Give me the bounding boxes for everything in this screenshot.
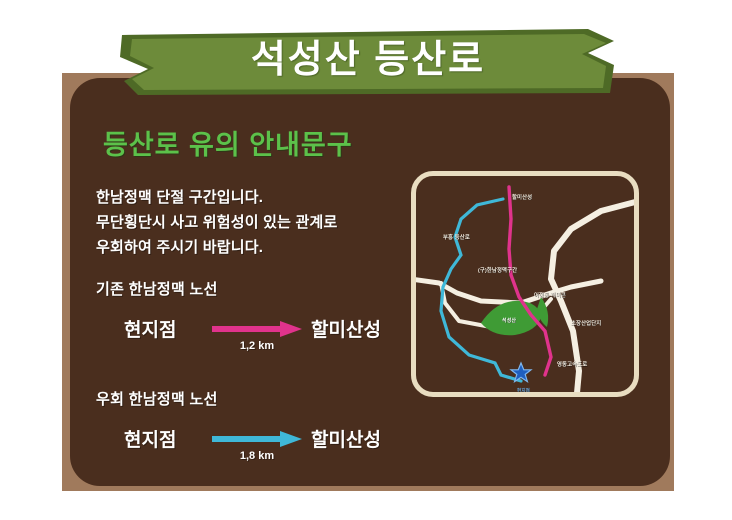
route-existing: 기존 한남정맥 노선 현지점 1,2 km 할미산성 [96, 278, 396, 355]
route-detour-title: 우회 한남정맥 노선 [96, 388, 396, 409]
map-label-yeongdong-expressway: 영동고속도로 [557, 360, 587, 368]
right-arrow-icon [212, 431, 302, 447]
title-banner: 석성산 등산로 [118, 25, 618, 97]
route-detour-to: 할미산성 [311, 425, 381, 452]
map-roads [411, 201, 639, 393]
map-label-industrial-complex: 초장산업단지 [571, 319, 601, 327]
page-title: 석성산 등산로 [118, 25, 618, 97]
right-arrow-icon [212, 321, 302, 337]
route-existing-distance: 1,2 km [212, 340, 302, 352]
map-label-old-hannamjeongmaek: (구)한남정맥구간 [478, 266, 517, 274]
route-existing-to: 할미산성 [311, 315, 381, 342]
route-detour: 우회 한남정맥 노선 현지점 1,8 km 할미산성 [96, 388, 396, 465]
notice-heading: 등산로 유의 안내문구 [103, 123, 353, 162]
map-label-halmisanseong: 할미산성 [512, 193, 532, 201]
notice-line-2: 무단횡단시 사고 위험성이 있는 관계로 [96, 210, 337, 235]
route-existing-from: 현지점 [124, 315, 176, 342]
map-label-eojeongdong: 어정동 레미콘 [534, 291, 566, 299]
map-label-seokseongsan: 석성산 [502, 317, 516, 324]
notice-body: 한남정맥 단절 구간입니다. 무단횡단시 사고 위험성이 있는 관계로 우회하여… [96, 185, 337, 260]
right-arrow-glyph [212, 431, 302, 447]
map-label-current-location: 현지점 [517, 388, 530, 394]
location-map-panel: 할미산성 부흥 등산로 (구)한남정맥구간 어정동 레미콘 초장산업단지 영동고… [411, 171, 639, 397]
notice-line-3: 우회하여 주시기 바랍니다. [96, 235, 337, 260]
map-graphic [411, 171, 639, 397]
route-detour-row: 현지점 1,8 km 할미산성 [96, 423, 396, 465]
notice-line-1: 한남정맥 단절 구간입니다. [96, 185, 337, 210]
route-existing-title: 기존 한남정맥 노선 [96, 278, 396, 299]
route-existing-row: 현지점 1,2 km 할미산성 [96, 313, 396, 355]
route-detour-from: 현지점 [124, 425, 176, 452]
route-detour-distance: 1,8 km [212, 450, 302, 462]
map-route-existing [509, 187, 551, 375]
map-label-buheung-trail: 부흥 등산로 [443, 233, 470, 241]
right-arrow-glyph [212, 321, 302, 337]
